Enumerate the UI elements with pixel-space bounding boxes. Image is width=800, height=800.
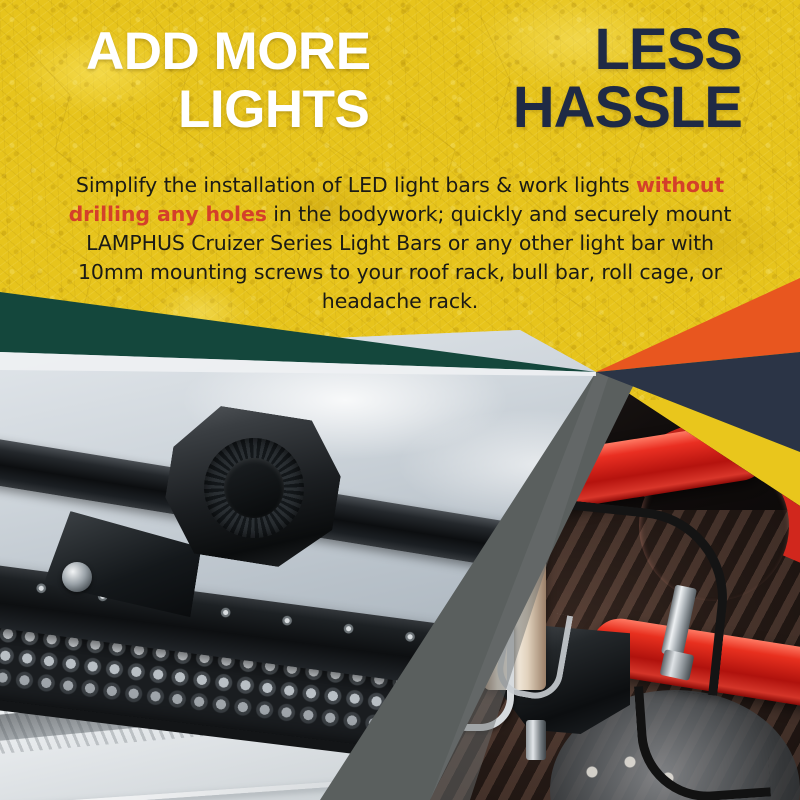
photo-collage <box>0 0 800 800</box>
clamp-bolt <box>526 720 546 760</box>
promo-banner: ADD MORE LESS LIGHTS HASSLE Simplify the… <box>0 0 800 800</box>
clamp-center-hub <box>224 458 284 518</box>
wedge-orange <box>596 278 800 372</box>
header-lower-edge <box>0 0 800 372</box>
hex-bolt <box>62 562 92 592</box>
